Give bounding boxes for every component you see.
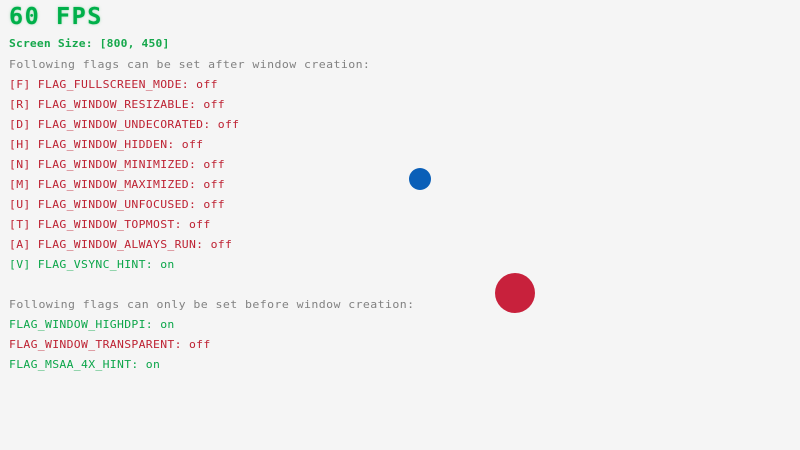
flag-row-window-undecorated[interactable]: [D] FLAG_WINDOW_UNDECORATED: off [9,119,239,130]
raylib-window-canvas[interactable]: 60 FPS Screen Size: [800, 450] Following… [0,0,800,450]
blue-ball-shape [409,168,431,190]
flag-row-window-hidden[interactable]: [H] FLAG_WINDOW_HIDDEN: off [9,139,203,150]
runtime-flags-header: Following flags can be set after window … [9,59,370,70]
flag-row-window-always-run[interactable]: [A] FLAG_WINDOW_ALWAYS_RUN: off [9,239,232,250]
flag-row-msaa-4x-hint: FLAG_MSAA_4X_HINT: on [9,359,160,370]
red-ball-shape [495,273,535,313]
flag-row-window-unfocused[interactable]: [U] FLAG_WINDOW_UNFOCUSED: off [9,199,225,210]
flag-row-window-minimized[interactable]: [N] FLAG_WINDOW_MINIMIZED: off [9,159,225,170]
flag-row-window-resizable[interactable]: [R] FLAG_WINDOW_RESIZABLE: off [9,99,225,110]
flag-row-vsync-hint[interactable]: [V] FLAG_VSYNC_HINT: on [9,259,175,270]
flag-row-window-transparent: FLAG_WINDOW_TRANSPARENT: off [9,339,211,350]
fps-counter: 60 FPS [9,6,103,29]
screen-size-label: Screen Size: [800, 450] [9,38,169,49]
flag-row-fullscreen-mode[interactable]: [F] FLAG_FULLSCREEN_MODE: off [9,79,218,90]
creation-flags-header: Following flags can only be set before w… [9,299,415,310]
flag-row-window-topmost[interactable]: [T] FLAG_WINDOW_TOPMOST: off [9,219,211,230]
flag-row-window-highdpi: FLAG_WINDOW_HIGHDPI: on [9,319,175,330]
flag-row-window-maximized[interactable]: [M] FLAG_WINDOW_MAXIMIZED: off [9,179,225,190]
